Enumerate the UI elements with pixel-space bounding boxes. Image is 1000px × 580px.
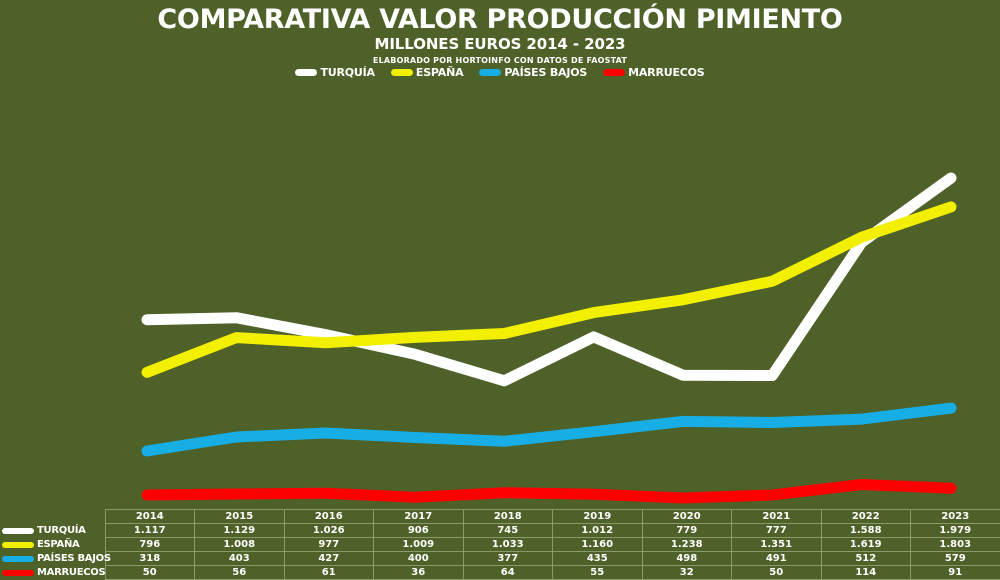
- table-cell: 1.033: [463, 538, 553, 552]
- table-cell: 36: [374, 566, 464, 580]
- chart-page: COMPARATIVA VALOR PRODUCCIÓN PIMIENTO MI…: [0, 0, 1000, 578]
- legend-swatch-icon: [391, 69, 413, 76]
- table-col-header-2016: 2016: [284, 510, 374, 524]
- table-cell: 427: [284, 552, 374, 566]
- row-swatch-icon: [2, 570, 34, 576]
- table-cell: 435: [553, 552, 643, 566]
- table-cell: 777: [732, 524, 822, 538]
- table-cell: 1.012: [553, 524, 643, 538]
- table-row: MARRUECOS505661366455325011491: [0, 566, 1000, 580]
- table-col-header-2022: 2022: [821, 510, 911, 524]
- table-cell: 1.238: [642, 538, 732, 552]
- series-line-países-bajos: [147, 408, 951, 451]
- table-cell: 56: [195, 566, 285, 580]
- table-col-header-2017: 2017: [374, 510, 464, 524]
- table-col-header-2014: 2014: [105, 510, 195, 524]
- data-table: 2014201520162017201820192020202120222023…: [0, 509, 1000, 580]
- table-col-header-2018: 2018: [463, 510, 553, 524]
- series-line-turquía: [147, 178, 951, 381]
- table-cell: 491: [732, 552, 822, 566]
- table-cell: 1.588: [821, 524, 911, 538]
- table-row-label-españa: ESPAÑA: [0, 538, 105, 552]
- table-cell: 318: [105, 552, 195, 566]
- row-label-text: PAÍSES BAJOS: [37, 552, 111, 565]
- legend-label: ESPAÑA: [416, 66, 464, 79]
- table-cell: 1.008: [195, 538, 285, 552]
- table-cell: 1.160: [553, 538, 643, 552]
- table-cell: 400: [374, 552, 464, 566]
- table-cell: 906: [374, 524, 464, 538]
- table-cell: 64: [463, 566, 553, 580]
- table-cell: 1.619: [821, 538, 911, 552]
- table-col-header-2023: 2023: [911, 510, 1000, 524]
- table-cell: 50: [105, 566, 195, 580]
- table-cell: 1.009: [374, 538, 464, 552]
- table-cell: 498: [642, 552, 732, 566]
- table-corner-cell: [0, 510, 105, 524]
- table-cell: 1.979: [911, 524, 1000, 538]
- table-row-label-turquía: TURQUÍA: [0, 524, 105, 538]
- legend-swatch-icon: [603, 69, 625, 76]
- table-col-header-2021: 2021: [732, 510, 822, 524]
- legend-label: MARRUECOS: [628, 66, 704, 79]
- legend-item-0[interactable]: TURQUÍA: [295, 66, 374, 79]
- table-cell: 779: [642, 524, 732, 538]
- legend-item-2[interactable]: PAÍSES BAJOS: [479, 66, 587, 79]
- row-label-text: MARRUECOS: [37, 566, 105, 579]
- table-row: ESPAÑA7961.0089771.0091.0331.1601.2381.3…: [0, 538, 1000, 552]
- legend-swatch-icon: [479, 69, 501, 76]
- table-cell: 796: [105, 538, 195, 552]
- chart-plot-area: [0, 88, 1000, 508]
- chart-legend: TURQUÍAESPAÑAPAÍSES BAJOSMARRUECOS: [0, 66, 1000, 79]
- table-cell: 61: [284, 566, 374, 580]
- table-row: TURQUÍA1.1171.1291.0269067451.0127797771…: [0, 524, 1000, 538]
- legend-label: TURQUÍA: [320, 66, 374, 79]
- table-header-row: 2014201520162017201820192020202120222023: [0, 510, 1000, 524]
- table-cell: 1.351: [732, 538, 822, 552]
- table-cell: 579: [911, 552, 1000, 566]
- table-row: PAÍSES BAJOS3184034274003774354984915125…: [0, 552, 1000, 566]
- page-title: COMPARATIVA VALOR PRODUCCIÓN PIMIENTO: [0, 6, 1000, 34]
- data-table-container: 2014201520162017201820192020202120222023…: [0, 509, 1000, 578]
- row-label-text: ESPAÑA: [37, 538, 80, 551]
- series-line-marruecos: [147, 485, 951, 499]
- table-cell: 1.026: [284, 524, 374, 538]
- row-label-text: TURQUÍA: [37, 524, 86, 537]
- table-cell: 377: [463, 552, 553, 566]
- table-col-header-2019: 2019: [553, 510, 643, 524]
- table-cell: 50: [732, 566, 822, 580]
- table-cell: 55: [553, 566, 643, 580]
- table-cell: 977: [284, 538, 374, 552]
- legend-item-3[interactable]: MARRUECOS: [603, 66, 704, 79]
- table-col-header-2015: 2015: [195, 510, 285, 524]
- table-cell: 114: [821, 566, 911, 580]
- table-col-header-2020: 2020: [642, 510, 732, 524]
- table-cell: 512: [821, 552, 911, 566]
- table-row-label-países-bajos: PAÍSES BAJOS: [0, 552, 105, 566]
- table-cell: 745: [463, 524, 553, 538]
- table-cell: 1.803: [911, 538, 1000, 552]
- legend-label: PAÍSES BAJOS: [504, 66, 587, 79]
- line-chart-svg: [0, 88, 1000, 508]
- chart-header: COMPARATIVA VALOR PRODUCCIÓN PIMIENTO MI…: [0, 0, 1000, 65]
- table-cell: 1.129: [195, 524, 285, 538]
- table-cell: 91: [911, 566, 1000, 580]
- page-subtitle: MILLONES EUROS 2014 - 2023: [0, 37, 1000, 53]
- table-cell: 32: [642, 566, 732, 580]
- table-cell: 403: [195, 552, 285, 566]
- table-cell: 1.117: [105, 524, 195, 538]
- row-swatch-icon: [2, 556, 34, 562]
- row-swatch-icon: [2, 528, 34, 534]
- credit-line: ELABORADO POR HORTOINFO CON DATOS DE FAO…: [0, 56, 1000, 65]
- table-row-label-marruecos: MARRUECOS: [0, 566, 105, 580]
- row-swatch-icon: [2, 542, 34, 548]
- legend-swatch-icon: [295, 69, 317, 76]
- legend-item-1[interactable]: ESPAÑA: [391, 66, 464, 79]
